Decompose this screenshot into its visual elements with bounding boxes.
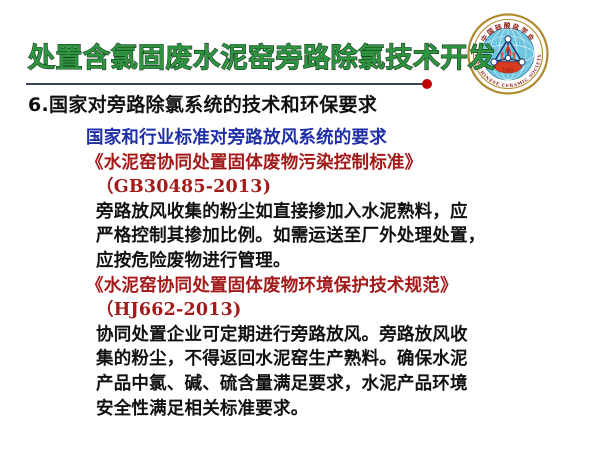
slide-canvas: 1945 中国硅酸盐学会 THE CHINESE CERAMIC SOCIETY… bbox=[0, 0, 600, 450]
body-line: 《水泥窑协同处置固体废物污染控制标准》 bbox=[86, 151, 556, 176]
slide-title: 处置含氯固废水泥窑旁路除氯技术开发 bbox=[28, 43, 496, 75]
body-line: 协同处置企业可定期进行旁路放风。旁路放风收 bbox=[86, 323, 556, 348]
body-text-block: 国家和行业标准对旁路放风系统的要求《水泥窑协同处置固体废物污染控制标准》（GB3… bbox=[86, 126, 556, 421]
body-line: 《水泥窑协同处置固体废物环境保护技术规范》 bbox=[86, 274, 556, 299]
divider-dot-marker bbox=[422, 79, 432, 89]
body-line: （GB30485-2013) bbox=[86, 175, 556, 200]
body-line: 严格控制其掺加比例。如需运送至厂外处理处置， bbox=[86, 224, 556, 249]
body-line: 安全性满足相关标准要求。 bbox=[86, 397, 556, 422]
body-line: 应按危险废物进行管理。 bbox=[86, 249, 556, 274]
body-line: （HJ662-2013) bbox=[86, 298, 556, 323]
body-line: 产品中氯、碱、硫含量满足要求，水泥产品环境 bbox=[86, 372, 556, 397]
section-heading: 6.国家对旁路除氯系统的技术和环保要求 bbox=[28, 92, 377, 118]
title-divider-line bbox=[26, 83, 426, 85]
logo-year: 1945 bbox=[502, 69, 513, 74]
body-line: 国家和行业标准对旁路放风系统的要求 bbox=[86, 126, 556, 151]
body-line: 集的粉尘，不得返回水泥窑生产熟料。确保水泥 bbox=[86, 347, 556, 372]
body-line: 旁路放风收集的粉尘如直接掺加入水泥熟料，应 bbox=[86, 200, 556, 225]
